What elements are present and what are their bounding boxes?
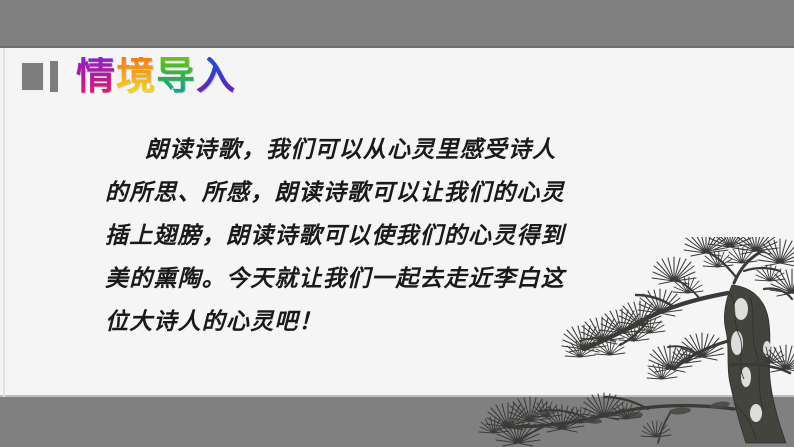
double-rectangle-bullet-icon	[20, 61, 58, 92]
section-heading: 情 境 导 入	[20, 50, 236, 102]
top-band-edge	[0, 46, 794, 48]
page-title: 情 境 导 入	[76, 57, 236, 96]
body-paragraph: 朗读诗歌，我们可以从心灵里感受诗人的所思、所感，朗读诗歌可以让我们的心灵插上翅膀…	[105, 128, 575, 343]
bottom-grey-band	[0, 397, 794, 447]
left-frame-rule	[3, 47, 5, 397]
bullet-rect-large	[20, 61, 45, 92]
title-char-1: 情	[76, 57, 116, 96]
bullet-rect-small	[50, 61, 58, 92]
top-grey-band	[0, 0, 794, 47]
title-char-4: 入	[196, 57, 236, 96]
slide-canvas: 情 境 导 入 朗读诗歌，我们可以从心灵里感受诗人的所思、所感，朗读诗歌可以让我…	[0, 0, 794, 447]
title-char-3: 导	[156, 57, 196, 96]
title-char-2: 境	[116, 57, 156, 96]
